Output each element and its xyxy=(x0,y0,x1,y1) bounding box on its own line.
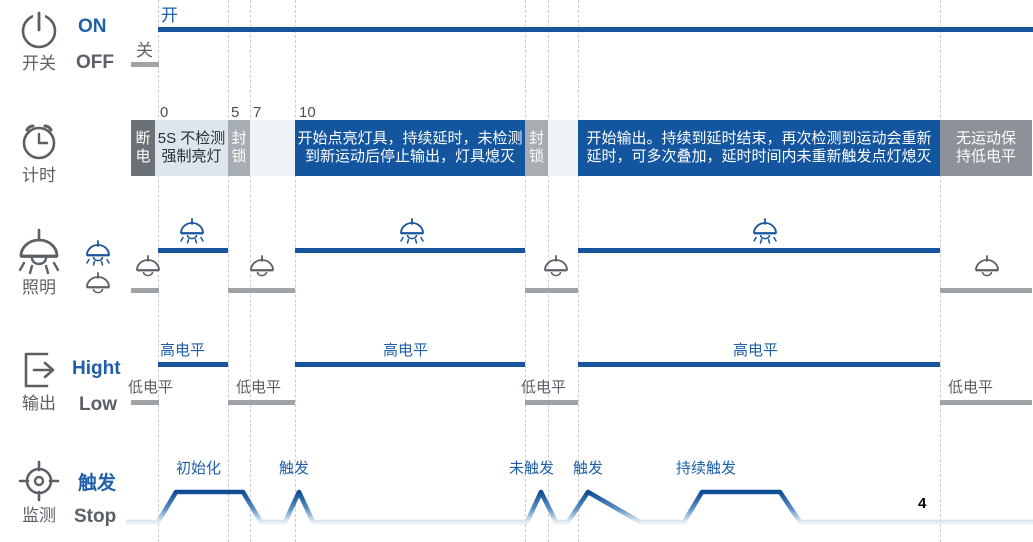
output-low-tag-3: 低电平 xyxy=(521,376,566,397)
lighting-on-segment-1 xyxy=(158,248,228,253)
alarm-clock-icon xyxy=(16,118,62,164)
switch-on-tag: 开 xyxy=(161,1,178,26)
switch-on-segment xyxy=(158,27,1033,32)
lighting-off-segment-2 xyxy=(228,288,295,293)
legend-lamp-on-icon xyxy=(84,240,112,266)
output-high-tag-1: 高电平 xyxy=(160,339,205,360)
legend-lamp-off-icon xyxy=(84,272,112,294)
state-label-off: OFF xyxy=(76,52,114,74)
lamp-off-icon-4 xyxy=(973,255,1001,277)
row-caption-lighting: 照明 xyxy=(8,279,70,298)
tick-label-10: 10 xyxy=(299,104,316,121)
row-caption-switch: 开关 xyxy=(8,55,70,74)
lighting-on-segment-3 xyxy=(578,248,940,253)
timing-block-lockout-1: 封锁 xyxy=(228,120,250,176)
timing-block-lockout-2: 封锁 xyxy=(525,120,548,176)
output-arrow-icon xyxy=(16,348,62,392)
state-label-high: Hight xyxy=(72,358,121,380)
output-low-segment-4 xyxy=(940,400,1032,405)
timing-block-idle-2 xyxy=(548,120,578,176)
output-low-segment-2 xyxy=(228,400,295,405)
page-number: 4 xyxy=(918,495,926,512)
tick-label-7: 7 xyxy=(253,104,261,121)
state-label-on: ON xyxy=(78,16,107,38)
output-high-segment-3 xyxy=(578,362,940,367)
state-label-low: Low xyxy=(79,394,117,416)
lighting-on-segment-2 xyxy=(295,248,525,253)
timing-block-output-delay: 开始输出。持续到延时结束，再次检测到运动会重新延时，可多次叠加，延时时间内未重新… xyxy=(578,120,940,176)
lighting-off-segment-4 xyxy=(940,288,1032,293)
lamp-icon xyxy=(13,228,65,276)
lighting-off-segment-3 xyxy=(525,288,578,293)
output-low-segment-1 xyxy=(131,400,159,405)
switch-off-tag: 关 xyxy=(136,36,153,61)
timing-diagram: 开关 计时 照明 输出 xyxy=(0,0,1033,542)
lighting-off-segment-1 xyxy=(131,288,159,293)
output-low-segment-3 xyxy=(525,400,578,405)
row-caption-timing: 计时 xyxy=(8,167,70,186)
timing-block-hold-low: 无运动保持低电平 xyxy=(940,120,1032,176)
lamp-on-icon-3 xyxy=(751,218,779,244)
row-icon-lighting: 照明 xyxy=(8,228,70,298)
timing-block-no-detect: 5S 不检测强制亮灯 xyxy=(155,120,228,176)
lamp-off-icon-1 xyxy=(134,255,162,277)
power-icon xyxy=(16,6,62,52)
output-high-tag-2: 高电平 xyxy=(383,339,428,360)
row-caption-output: 输出 xyxy=(8,395,70,414)
output-low-tag-2: 低电平 xyxy=(236,376,281,397)
detection-waveform xyxy=(0,440,1033,542)
lamp-off-icon-2 xyxy=(248,255,276,277)
row-icon-output: 输出 xyxy=(8,348,70,414)
lamp-on-icon-2 xyxy=(398,218,426,244)
output-low-tag-4: 低电平 xyxy=(948,376,993,397)
lamp-off-icon-3 xyxy=(542,255,570,277)
switch-off-segment xyxy=(131,62,159,67)
timing-block-power-off: 断电 xyxy=(131,120,155,176)
row-icon-switch: 开关 xyxy=(8,6,70,74)
lamp-on-icon-1 xyxy=(178,218,206,244)
output-low-tag-1: 低电平 xyxy=(128,376,173,397)
timing-block-idle-1 xyxy=(250,120,295,176)
output-high-tag-3: 高电平 xyxy=(733,339,778,360)
tick-label-5: 5 xyxy=(231,104,239,121)
timing-block-light-delay: 开始点亮灯具，持续延时，未检测到新运动后停止输出，灯具熄灭 xyxy=(295,120,525,176)
tick-label-0: 0 xyxy=(160,104,168,121)
output-high-segment-1 xyxy=(158,362,228,367)
row-icon-timing: 计时 xyxy=(8,118,70,186)
output-high-segment-2 xyxy=(295,362,525,367)
